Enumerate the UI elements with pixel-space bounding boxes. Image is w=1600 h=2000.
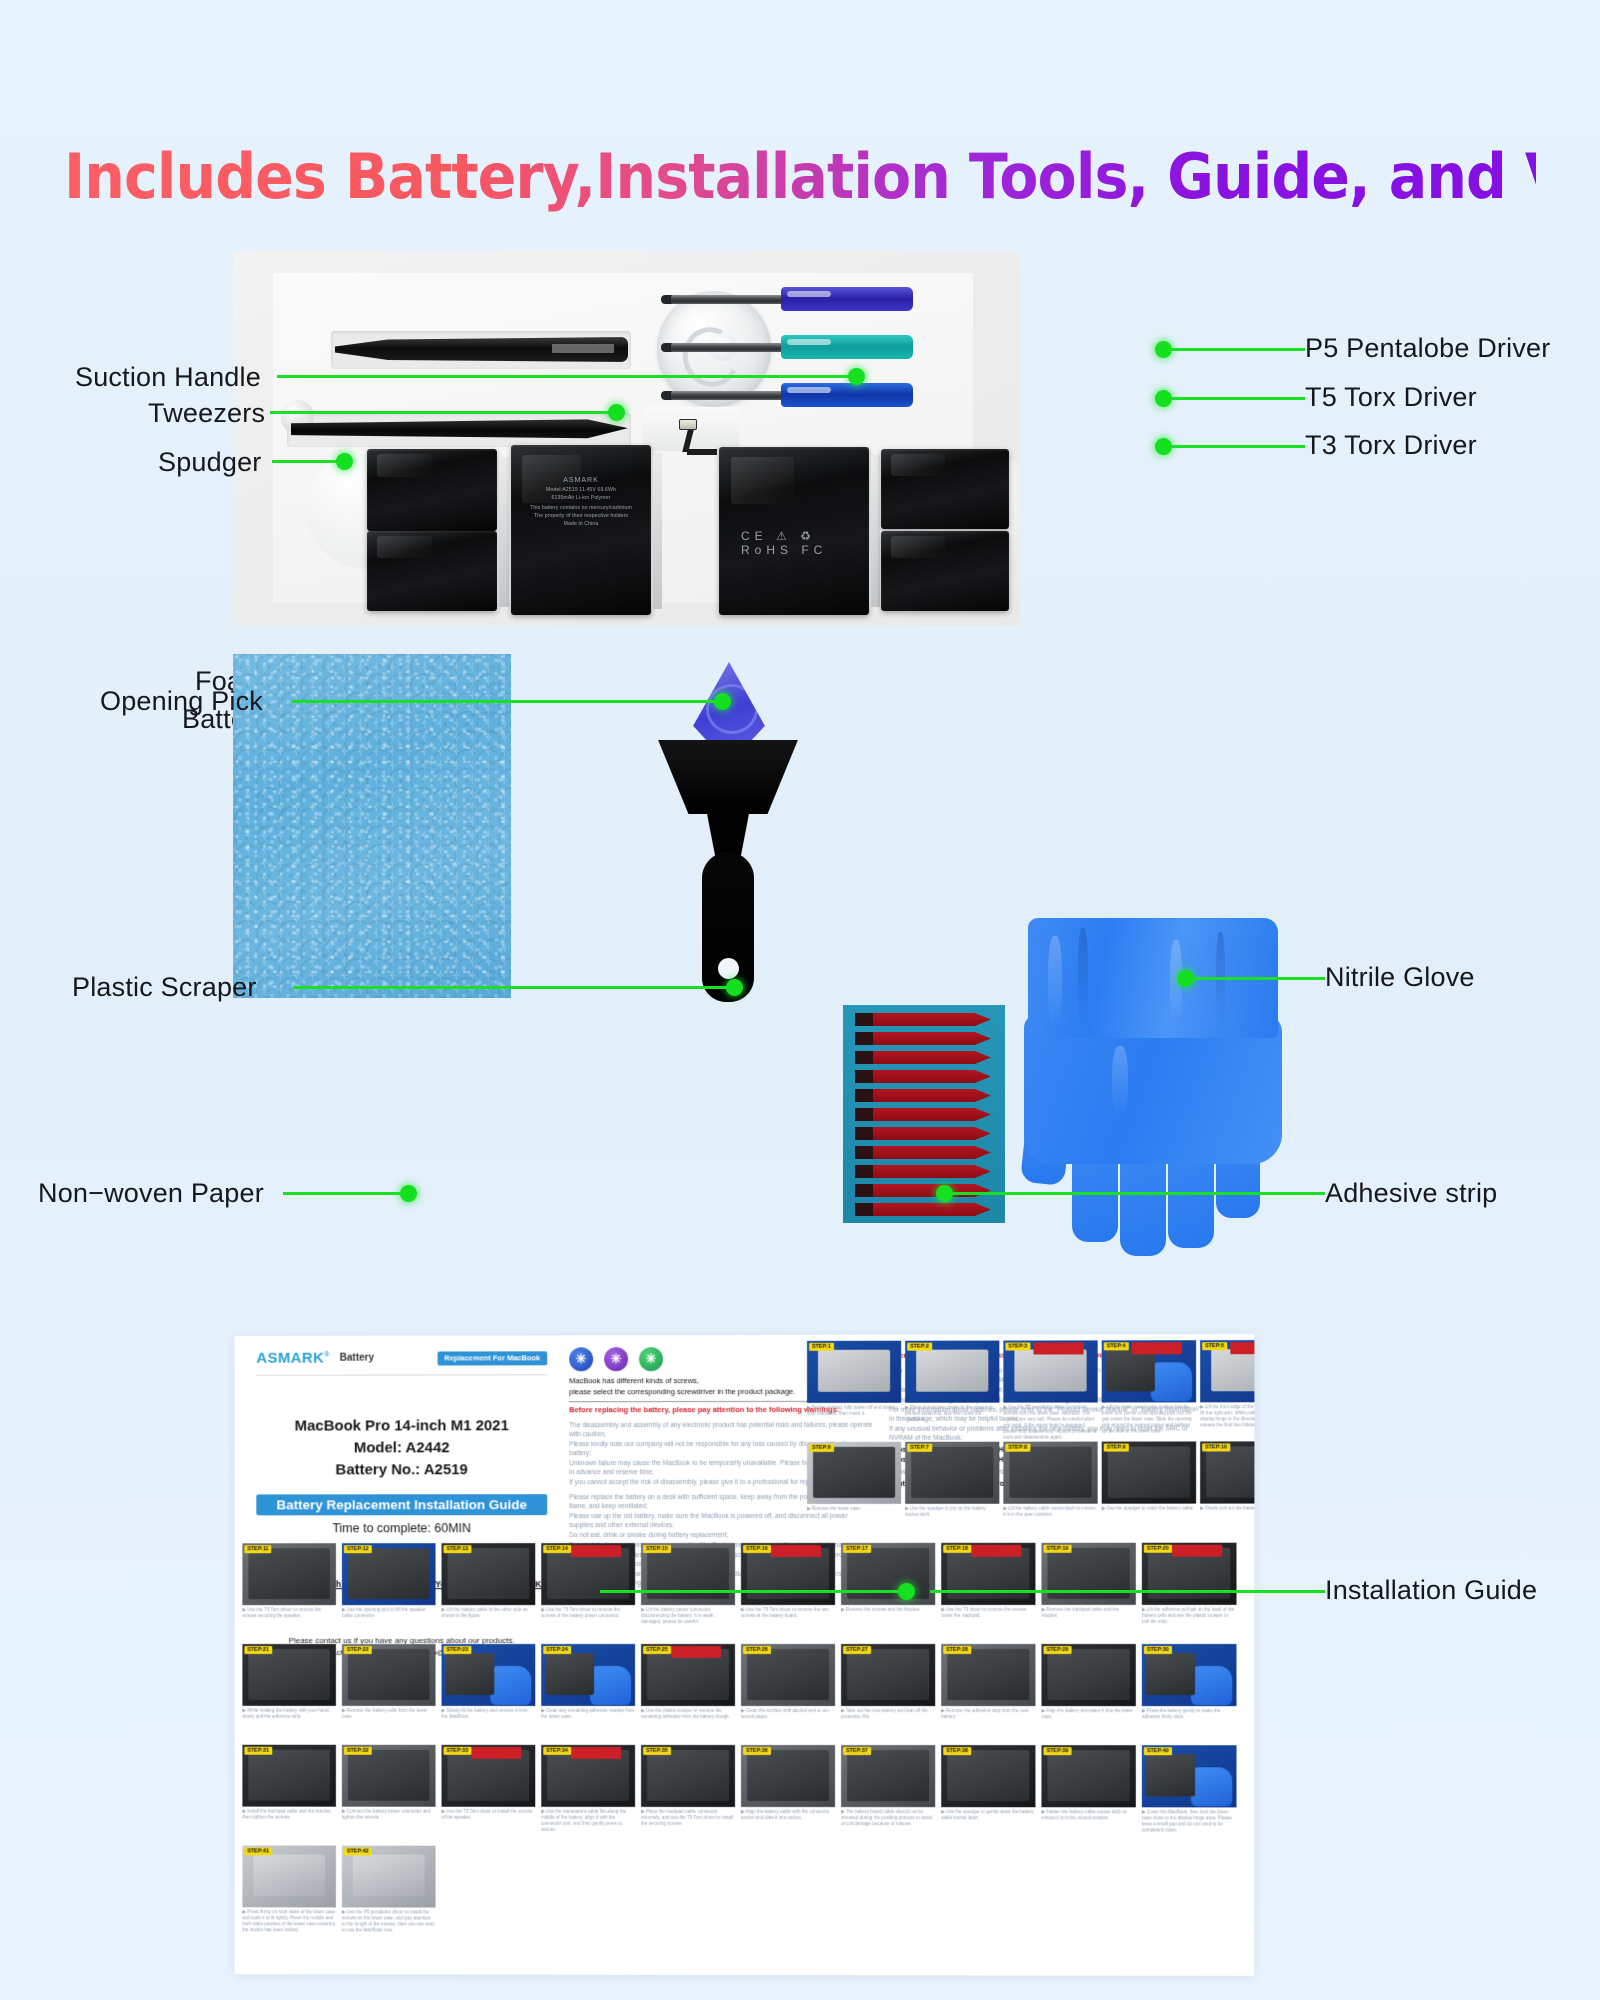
connector-ribbon-2 <box>687 449 717 455</box>
callout-label-p5-driver: P5 Pentalobe Driver <box>1305 333 1550 364</box>
step-image-plate <box>1105 1349 1154 1391</box>
step-number-badge: STEP:41 <box>244 1847 271 1855</box>
step-caption: ▶ Press firmly on both sides of the lowe… <box>242 1909 336 1933</box>
step-image-plate <box>916 1349 988 1391</box>
step-number-badge: STEP:19 <box>1043 1545 1071 1553</box>
adhesive-strip-row <box>855 1184 991 1197</box>
adhesive-strip-row <box>855 1203 991 1216</box>
step-caption: ▶ Use the T5 Torx driver to remove the t… <box>741 1607 835 1619</box>
step-image-plate <box>545 1653 594 1695</box>
step-caption: ▶ Use the spudger to gently down the bat… <box>941 1809 1035 1821</box>
callout-line-opening-pick <box>292 700 720 703</box>
driver-shaft <box>671 343 789 352</box>
step-number-badge: STEP:20 <box>1144 1545 1172 1553</box>
step-number-badge: STEP:15 <box>643 1545 671 1553</box>
callout-dot-spudger <box>336 453 353 470</box>
nitrile-glove-item <box>1020 918 1285 1238</box>
step-caption: ▶ Remove the adhesive strip from the new… <box>941 1708 1035 1720</box>
battery-brand-text: ASMARK <box>511 477 651 484</box>
step-grid: STEP:1▶ Before starting, fully power off… <box>234 1334 1254 1976</box>
step-number-badge: STEP:17 <box>843 1545 871 1553</box>
step-image-glove <box>1191 1768 1233 1807</box>
battery-tab <box>871 455 880 607</box>
step-caption: ▶ Align the battery cable with the conne… <box>741 1809 835 1821</box>
adhesive-strip-row <box>855 1032 991 1045</box>
step-number-badge: STEP:14 <box>543 1545 571 1553</box>
step-number-badge: STEP:22 <box>344 1646 372 1654</box>
step-number-badge: STEP:39 <box>1043 1747 1071 1755</box>
battery-tab <box>499 457 509 607</box>
step-warning-banner <box>771 1545 821 1557</box>
step-warning-banner <box>1033 1342 1083 1354</box>
step-image-internals <box>947 1649 1030 1700</box>
driver-grip <box>781 335 913 359</box>
step-caption: ▶ Use the P5 pentalobe driver to remove … <box>1003 1405 1097 1441</box>
scraper-hang-hole <box>718 958 739 979</box>
step-image-internals <box>847 1750 930 1801</box>
callout-line-non-woven-paper <box>283 1192 406 1195</box>
step-image-internals <box>348 1750 430 1801</box>
callout-line-plastic-scraper <box>293 986 733 989</box>
glove-wrinkle <box>1078 928 1088 1032</box>
step-caption: ▶ The battery board cable should not be … <box>841 1809 935 1827</box>
battery-flex-connector <box>665 419 715 463</box>
step-image-internals <box>847 1649 930 1700</box>
adhesive-strip-row <box>855 1165 991 1178</box>
step-caption: ▶ Remove the lower case. <box>807 1506 901 1512</box>
glove-wrinkle <box>1216 932 1225 1028</box>
step-caption: ▶ While holding the battery with your ha… <box>242 1708 336 1720</box>
step-number-badge: STEP:12 <box>344 1545 372 1553</box>
callout-dot-p5-driver <box>1155 341 1172 358</box>
battery-cell <box>881 449 1009 529</box>
step-image-internals <box>647 1750 730 1801</box>
callout-dot-opening-pick <box>714 693 731 710</box>
installation-guide-poster: ASMARK® Battery Replacement For MacBook … <box>234 1334 1254 1976</box>
step-image-plate <box>1211 1349 1254 1391</box>
step-number-badge: STEP:27 <box>843 1646 871 1654</box>
non-woven-paper-item <box>233 654 511 998</box>
callout-line-spudger <box>272 460 344 463</box>
driver-grip <box>781 383 913 407</box>
step-caption: ▶ Remove the screws and the bracket. <box>841 1607 935 1613</box>
callout-line-installation-guide <box>930 1590 1325 1593</box>
step-caption: ▶ Use the spudger to catch the battery c… <box>1102 1506 1196 1512</box>
callout-dot-adhesive-strip <box>936 1185 953 1202</box>
callout-line-suction-handle <box>277 375 856 378</box>
driver-shaft <box>671 391 789 400</box>
callout-label-t3-driver: T3 Torx Driver <box>1305 430 1477 461</box>
tweezers-tool <box>335 337 628 362</box>
step-number-badge: STEP:25 <box>643 1646 671 1654</box>
step-image-internals <box>947 1750 1030 1801</box>
step-image-glove <box>1151 1363 1193 1402</box>
step-number-badge: STEP:24 <box>543 1646 571 1654</box>
tools-photo-panel: Model:A2519 11.45V 69.6Wh 6135mAh Li-ion… <box>233 251 1020 626</box>
step-number-badge: STEP:30 <box>1144 1646 1172 1654</box>
step-number-badge: STEP:42 <box>344 1848 372 1856</box>
step-number-badge: STEP:40 <box>1144 1747 1172 1755</box>
driver-grip <box>781 287 913 311</box>
driver-shaft <box>671 295 789 304</box>
step-warning-banner <box>1172 1545 1222 1557</box>
step-image-glove <box>590 1666 631 1704</box>
step-image-internals <box>911 1447 994 1498</box>
battery-label-text: 6135mAh Li-ion Polymer <box>511 495 651 502</box>
step-caption: ▶ Lift the adhesive pull tab on the back… <box>1142 1607 1236 1625</box>
callout-label-t5-driver: T5 Torx Driver <box>1305 382 1477 413</box>
adhesive-strip-row <box>855 1013 991 1026</box>
step-number-badge: STEP:21 <box>244 1646 271 1654</box>
step-number-badge: STEP:4 <box>1104 1342 1129 1350</box>
callout-label-installation-guide: Installation Guide <box>1325 1575 1537 1606</box>
step-number-badge: STEP:31 <box>244 1747 271 1755</box>
callout-dot-installation-guide <box>898 1583 915 1600</box>
step-number-badge: STEP:16 <box>743 1545 771 1553</box>
step-caption: ▶ Clean any remaining adhesive residue f… <box>541 1708 635 1720</box>
step-image-internals <box>447 1548 529 1599</box>
step-number-badge: STEP:9 <box>1104 1444 1129 1452</box>
step-number-badge: STEP:32 <box>344 1747 372 1755</box>
step-number-badge: STEP:6 <box>809 1444 834 1452</box>
step-image-internals <box>747 1649 830 1700</box>
step-image-glove <box>1191 1666 1233 1705</box>
step-number-badge: STEP:37 <box>843 1747 871 1755</box>
callout-line-tweezers <box>270 411 617 414</box>
battery-tab <box>653 453 662 609</box>
glove-wrinkle <box>1048 936 1062 1028</box>
callout-line-p5-driver <box>1163 348 1305 351</box>
product-infographic: Includes Battery,Installation Tools, Gui… <box>0 0 1600 2000</box>
step-caption: ▶ Use the plastic scraper to remove the … <box>641 1708 735 1720</box>
glove-wrinkle <box>1112 1046 1128 1116</box>
battery-label-text: Made in China <box>511 521 651 528</box>
battery-cell-labeled: Model:A2519 11.45V 69.6Wh 6135mAh Li-ion… <box>511 445 651 615</box>
step-number-badge: STEP:10 <box>1202 1443 1230 1451</box>
step-caption: ▶ Use the transparent cable flat along t… <box>541 1809 635 1833</box>
step-image-internals <box>1047 1750 1130 1801</box>
step-caption: ▶ Install the trackpad cable and the bra… <box>242 1809 336 1821</box>
callout-dot-t5-driver <box>1155 390 1172 407</box>
battery-label-text: This battery contains no mercury/cadmium <box>511 505 651 512</box>
adhesive-strip-row <box>855 1127 991 1140</box>
step-image-internals <box>248 1750 330 1801</box>
step-number-badge: STEP:36 <box>743 1747 771 1755</box>
step-number-badge: STEP:38 <box>943 1747 971 1755</box>
callout-dot-plastic-scraper <box>726 979 743 996</box>
step-number-badge: STEP:5 <box>1202 1342 1227 1350</box>
step-image-plate <box>1146 1653 1195 1695</box>
callout-line-t3-driver <box>1163 445 1305 448</box>
step-caption: ▶ Place non-woven paper on the screen to… <box>905 1405 999 1423</box>
step-warning-banner <box>671 1646 721 1658</box>
step-image-plate <box>818 1349 890 1391</box>
battery-label-text: The property of their respective holders <box>511 513 651 520</box>
step-caption: ▶ Align the battery and place it into th… <box>1041 1708 1135 1720</box>
step-image-plate <box>353 1854 424 1896</box>
callout-dot-non-woven-paper <box>400 1185 417 1202</box>
adhesive-strip-row <box>855 1051 991 1064</box>
callout-label-non-woven-paper: Non−woven Paper <box>38 1178 264 1209</box>
step-caption: ▶ Place the trackpad cable connector rev… <box>641 1809 735 1827</box>
step-caption: ▶ Lift the battery cable socket latch to… <box>1003 1506 1097 1518</box>
step-image-plate <box>254 1854 325 1896</box>
step-number-badge: STEP:1 <box>809 1343 834 1351</box>
step-image-internals <box>1107 1446 1190 1497</box>
battery-assembly: Model:A2519 11.45V 69.6Wh 6135mAh Li-ion… <box>313 443 1020 626</box>
step-caption: ▶ Fasten the battery cable socket latch … <box>1041 1809 1135 1821</box>
step-number-badge: STEP:7 <box>907 1444 932 1452</box>
callout-label-opening-pick: Opening Pick <box>100 686 263 717</box>
step-image-plate <box>445 1653 494 1695</box>
step-image-glove <box>490 1666 531 1704</box>
callout-label-nitrile-glove: Nitrile Glove <box>1325 962 1475 993</box>
step-number-badge: STEP:2 <box>907 1343 932 1351</box>
callout-dot-tweezers <box>608 404 625 421</box>
step-number-badge: STEP:8 <box>1005 1444 1030 1452</box>
step-caption: ▶ Lift the front edge of the lower case … <box>1200 1404 1254 1428</box>
step-image-internals <box>1047 1649 1130 1700</box>
battery-cell <box>367 531 497 611</box>
step-warning-banner <box>1132 1342 1182 1354</box>
step-number-badge: STEP:29 <box>1043 1646 1071 1654</box>
foam-tray: Model:A2519 11.45V 69.6Wh 6135mAh Li-ion… <box>273 273 973 603</box>
step-caption: ▶ Use the T5 Torx driver to install the … <box>442 1809 536 1821</box>
step-caption: ▶ Lift the battery cable to the other si… <box>442 1607 536 1619</box>
step-image-plate <box>1146 1754 1195 1796</box>
connector-pad <box>679 419 697 430</box>
step-number-badge: STEP:11 <box>244 1545 271 1553</box>
step-caption: ▶ Before starting, fully power off and s… <box>807 1405 901 1417</box>
step-caption: ▶ Remove the battery cells from the lowe… <box>342 1708 436 1720</box>
callout-label-spudger: Spudger <box>158 447 261 478</box>
plastic-scraper-item <box>652 740 804 1002</box>
step-number-badge: STEP:26 <box>743 1646 771 1654</box>
step-number-badge: STEP:33 <box>444 1747 472 1755</box>
scraper-handle <box>702 852 754 1002</box>
step-caption: ▶ Clean the surface with alcohol and a n… <box>741 1708 835 1720</box>
step-number-badge: STEP:35 <box>643 1747 671 1755</box>
step-caption: ▶ Use the T5 Torx driver to remove the s… <box>541 1607 635 1619</box>
adhesive-strip-row <box>855 1089 991 1102</box>
battery-label-text: Model:A2519 11.45V 69.6Wh <box>511 487 651 494</box>
battery-certification-marks: CE ⚠ ♻ RoHS FC <box>741 529 869 557</box>
step-image-internals <box>348 1548 430 1599</box>
step-caption: ▶ Lift the battery power connector, disc… <box>641 1607 735 1625</box>
step-image-internals <box>248 1548 330 1599</box>
callout-line-t5-driver <box>1163 397 1305 400</box>
step-caption: ▶ Use the T5 Torx driver to remove the s… <box>242 1607 336 1619</box>
step-warning-banner <box>571 1747 621 1759</box>
step-number-badge: STEP:28 <box>943 1646 971 1654</box>
battery-cell-marks: CE ⚠ ♻ RoHS FC <box>719 447 869 615</box>
step-warning-banner <box>571 1545 621 1557</box>
step-number-badge: STEP:34 <box>543 1747 571 1755</box>
step-warning-banner <box>471 1747 521 1759</box>
callout-label-plastic-scraper: Plastic Scraper <box>72 972 257 1003</box>
callout-label-tweezers: Tweezers <box>148 398 265 429</box>
step-caption: ▶ Connect the battery power connector an… <box>342 1809 436 1821</box>
callout-label-suction-handle: Suction Handle <box>75 362 261 393</box>
step-caption: ▶ Cover the MacBook, then lock the lower… <box>1142 1809 1236 1833</box>
adhesive-strip-item <box>843 1005 1005 1223</box>
callout-line-installation-guide-2 <box>600 1590 900 1593</box>
callout-dot-t3-driver <box>1155 438 1172 455</box>
step-image-internals <box>747 1750 830 1801</box>
step-warning-banner <box>971 1545 1021 1557</box>
step-image-internals <box>813 1447 896 1498</box>
page-title: Includes Battery,Installation Tools, Gui… <box>64 140 1536 213</box>
step-caption: ▶ Slowly pull out the battery cable. <box>1200 1506 1254 1512</box>
step-caption: ▶ Use the opening pick to lift the speak… <box>342 1607 436 1619</box>
step-image-internals <box>248 1649 330 1700</box>
step-number-badge: STEP:3 <box>1005 1343 1030 1351</box>
step-caption: ▶ Lift the lower case by the suction han… <box>1102 1404 1196 1434</box>
callout-dot-suction-handle <box>848 368 865 385</box>
adhesive-strip-row <box>855 1146 991 1159</box>
step-warning-banner <box>1230 1342 1254 1354</box>
battery-cell <box>367 449 497 531</box>
adhesive-strip-row <box>855 1070 991 1083</box>
step-number-badge: STEP:18 <box>943 1545 971 1553</box>
step-caption: ▶ Use the P5 pentalobe driver to install… <box>342 1909 436 1933</box>
step-image-internals <box>1206 1446 1255 1497</box>
step-caption: ▶ Press the battery gently to make the a… <box>1142 1708 1236 1720</box>
step-image-plate <box>1015 1349 1087 1391</box>
callout-line-adhesive-strip <box>944 1192 1325 1195</box>
step-caption: ▶ Use the spudger to pry up the battery … <box>905 1506 999 1518</box>
step-caption: ▶ Use the T5 driver to remove the screws… <box>941 1607 1035 1619</box>
battery-cell <box>881 531 1009 611</box>
adhesive-strip-row <box>855 1108 991 1121</box>
step-image-internals <box>348 1649 430 1700</box>
step-caption: ▶ Slowly lift the battery and remove it … <box>442 1708 536 1720</box>
callout-label-adhesive-strip: Adhesive strip <box>1325 1178 1497 1209</box>
callout-dot-nitrile-glove <box>1177 970 1194 987</box>
step-image-internals <box>1009 1447 1092 1498</box>
step-caption: ▶ Remove the trackpad cable and the brac… <box>1041 1607 1135 1619</box>
callout-line-nitrile-glove <box>1185 977 1325 980</box>
step-caption: ▶ Take out the new battery and tear off … <box>841 1708 935 1720</box>
step-number-badge: STEP:23 <box>444 1646 472 1654</box>
step-number-badge: STEP:13 <box>444 1545 472 1553</box>
